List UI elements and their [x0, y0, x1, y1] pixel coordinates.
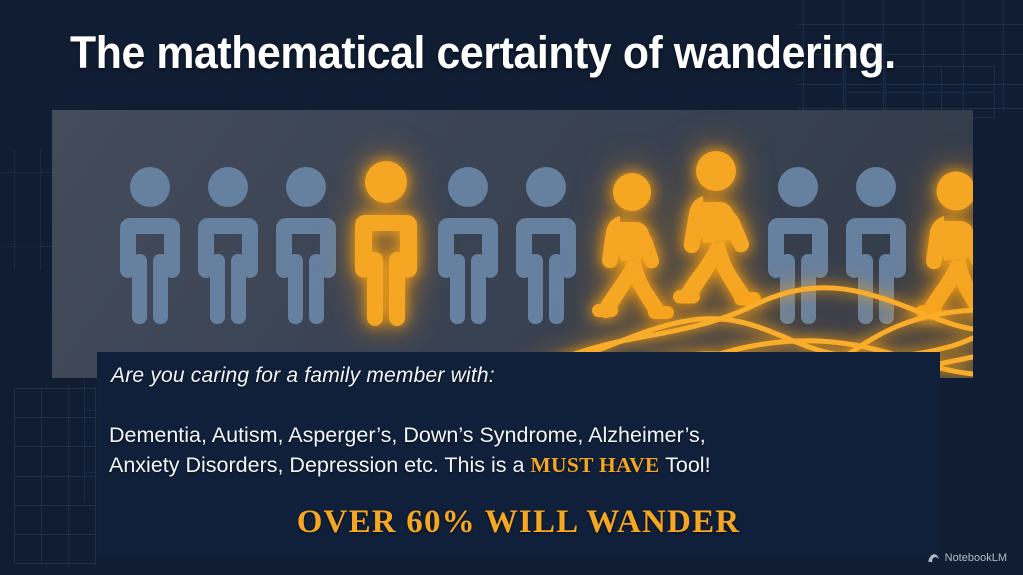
- blueprint-grid-mid-left: [0, 150, 52, 270]
- wandering-path-lines: [52, 110, 973, 378]
- illustration-panel: [52, 110, 973, 378]
- caption-body-line-2-before: Anxiety Disorders, Depression etc. This …: [109, 453, 530, 477]
- caption-highlight-must-have: MUST HAVE: [530, 453, 659, 477]
- caption-body-text: Dementia, Autism, Asperger’s, Down’s Syn…: [109, 420, 930, 480]
- caption-body-line-1: Dementia, Autism, Asperger’s, Down’s Syn…: [109, 423, 706, 447]
- caption-lead-text: Are you caring for a family member with:: [111, 364, 495, 388]
- headline-over-60-percent: OVER 60% WILL WANDER: [97, 504, 940, 541]
- page-title: The mathematical certainty of wandering.: [70, 27, 896, 79]
- slide-canvas: The mathematical certainty of wandering.: [0, 0, 1023, 575]
- notebooklm-watermark: NotebookLM: [927, 552, 1007, 564]
- notebooklm-label: NotebookLM: [945, 552, 1007, 564]
- caption-body-line-2-after: Tool!: [660, 453, 711, 477]
- notebooklm-logo-icon: [927, 553, 940, 564]
- blueprint-grid-bottom-left: [14, 388, 96, 564]
- caption-box: Are you caring for a family member with:…: [97, 352, 940, 557]
